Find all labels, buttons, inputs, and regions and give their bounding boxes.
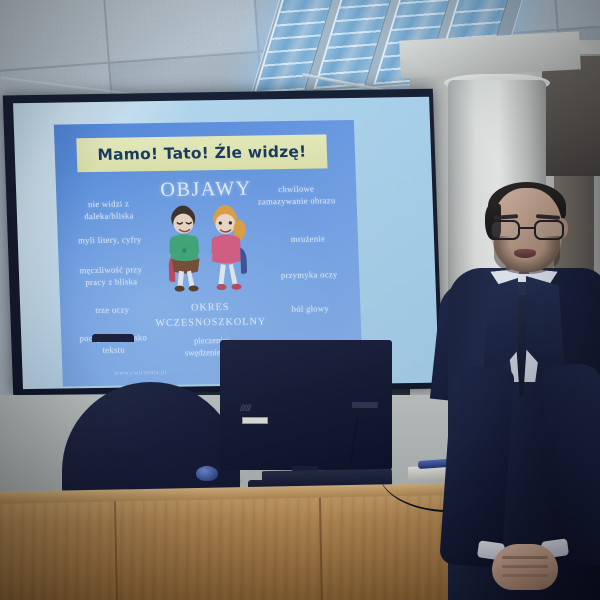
symptom-left-1: nie widzi zdaleka/bliska	[60, 197, 157, 223]
period-line-1: OKRES	[191, 302, 230, 314]
schoolchildren-clipart	[153, 203, 264, 297]
monitor-top-bezel	[92, 334, 134, 342]
slide-period-label: OKRES WCZESNOSZKOLNY	[60, 298, 361, 333]
ceiling-tile	[0, 0, 109, 74]
symptom-left-3: męczliwość przypracy z bliska	[63, 263, 160, 289]
mouth	[514, 249, 536, 258]
period-line-2: WCZESNOSZKOLNY	[155, 317, 266, 330]
monitor-brand-logo	[352, 402, 378, 408]
slide-title: Mamo! Tato! Źle widzę!	[97, 143, 307, 164]
clasped-hands	[492, 544, 558, 590]
slide-title-banner: Mamo! Tato! Źle widzę!	[76, 134, 327, 172]
monitor-asset-label	[242, 417, 268, 424]
symptom-right-2: mrużenie	[260, 232, 356, 246]
monitor-screen-reflection: ///////	[240, 403, 276, 415]
far-wall-recess	[542, 56, 600, 176]
presenter	[430, 170, 600, 600]
symptom-right-3: przymyka oczy	[261, 268, 357, 282]
photo-scene: Mamo! Tato! Źle widzę! OBJAWY nie widzi …	[0, 0, 600, 600]
symptom-left-2: myli litery, cyfry	[62, 233, 158, 247]
slide-footer-url: www.cwiczenia.pl	[80, 368, 200, 377]
ceiling-tile	[552, 0, 600, 30]
